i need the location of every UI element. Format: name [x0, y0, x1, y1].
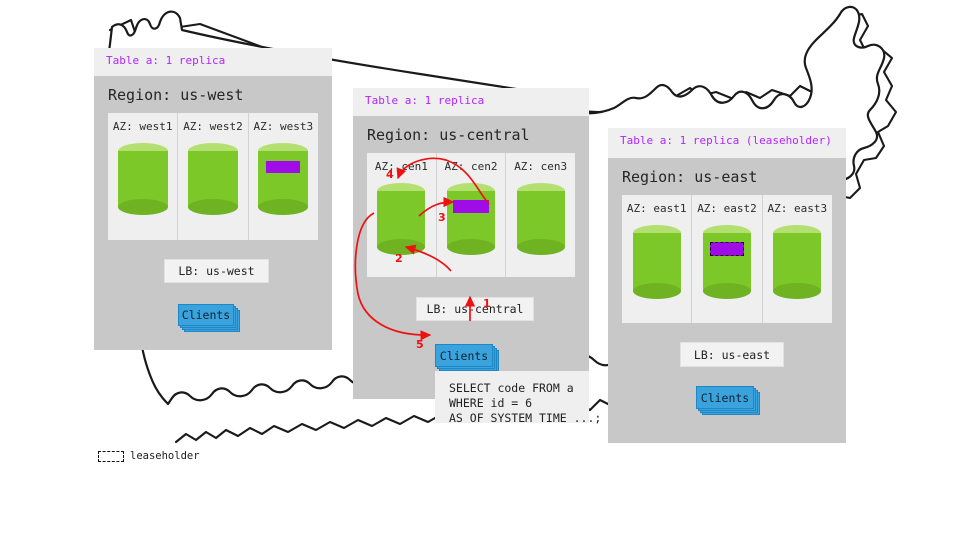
az-label: AZ: cen1 — [375, 160, 428, 174]
az-label: AZ: cen3 — [514, 160, 567, 174]
step-number-3: 3 — [438, 211, 446, 224]
step-number-4: 4 — [386, 168, 394, 181]
region-body-us-central: Region: us-central AZ: cen1 AZ: cen2 — [353, 116, 589, 399]
range-replica-cen2[interactable] — [453, 200, 489, 213]
diagram-canvas: Table a: 1 replica Region: us-west AZ: w… — [0, 0, 960, 540]
cylinder-bottom — [258, 199, 308, 215]
load-balancer-us-central[interactable]: LB: us-central — [416, 297, 534, 321]
node-cylinder-east1[interactable] — [633, 225, 681, 299]
az-cell-east2[interactable]: AZ: east2 — [691, 195, 761, 323]
sql-query-box: SELECT code FROM a WHERE id = 6 AS OF SY… — [435, 371, 589, 423]
clients-label[interactable]: Clients — [696, 386, 754, 409]
region-header-label: Table a: 1 replica (leaseholder) — [620, 134, 834, 148]
node-cylinder-cen1[interactable] — [377, 183, 425, 255]
sql-line-2: WHERE id = 6 — [449, 396, 577, 411]
node-cylinder-west1[interactable] — [118, 143, 168, 215]
range-replica-west3[interactable] — [266, 161, 300, 173]
range-leaseholder-east2[interactable] — [710, 242, 744, 256]
cylinder-bottom — [118, 199, 168, 215]
step-number-2: 2 — [395, 252, 403, 265]
node-cylinder-east2[interactable] — [703, 225, 751, 299]
region-header-label: Table a: 1 replica — [365, 94, 577, 108]
region-body-us-west: Region: us-west AZ: west1 AZ: west2 — [94, 76, 332, 350]
region-title: Region: us-east — [608, 158, 846, 195]
cylinder-bottom — [447, 239, 495, 255]
az-cell-cen3[interactable]: AZ: cen3 — [505, 153, 575, 277]
az-label: AZ: west1 — [113, 120, 173, 134]
cylinder-bottom — [633, 283, 681, 299]
sql-line-3: AS OF SYSTEM TIME ...; — [449, 411, 577, 426]
node-cylinder-cen3[interactable] — [517, 183, 565, 255]
region-header-label: Table a: 1 replica — [106, 54, 320, 68]
az-label: AZ: west2 — [183, 120, 243, 134]
region-panel-us-east: Table a: 1 replica (leaseholder) Region:… — [608, 128, 846, 443]
az-cell-cen2[interactable]: AZ: cen2 — [436, 153, 506, 277]
az-label: AZ: east3 — [768, 202, 828, 216]
az-label: AZ: cen2 — [445, 160, 498, 174]
az-label: AZ: east1 — [627, 202, 687, 216]
region-body-us-east: Region: us-east AZ: east1 AZ: east2 — [608, 158, 846, 443]
step-number-1: 1 — [483, 297, 491, 310]
az-row-us-east: AZ: east1 AZ: east2 — [622, 195, 832, 323]
node-cylinder-cen2[interactable] — [447, 183, 495, 255]
region-header-us-west: Table a: 1 replica — [94, 48, 332, 76]
sql-line-1: SELECT code FROM a — [449, 381, 577, 396]
region-title: Region: us-central — [353, 116, 589, 153]
legend-dashed-swatch-icon — [98, 451, 124, 462]
region-header-us-east: Table a: 1 replica (leaseholder) — [608, 128, 846, 158]
clients-label[interactable]: Clients — [435, 344, 493, 367]
az-cell-west1[interactable]: AZ: west1 — [108, 113, 177, 240]
load-balancer-us-west[interactable]: LB: us-west — [164, 259, 269, 283]
node-cylinder-west3[interactable] — [258, 143, 308, 215]
clients-stack-us-east[interactable]: Clients — [696, 386, 764, 418]
az-cell-west3[interactable]: AZ: west3 — [248, 113, 318, 240]
load-balancer-us-east[interactable]: LB: us-east — [680, 342, 784, 367]
clients-label[interactable]: Clients — [178, 304, 234, 326]
cylinder-bottom — [188, 199, 238, 215]
az-cell-west2[interactable]: AZ: west2 — [177, 113, 247, 240]
legend-leaseholder: leaseholder — [98, 450, 200, 462]
legend-label: leaseholder — [130, 450, 200, 462]
region-panel-us-west: Table a: 1 replica Region: us-west AZ: w… — [94, 48, 332, 350]
az-label: AZ: west3 — [254, 120, 314, 134]
region-header-us-central: Table a: 1 replica — [353, 88, 589, 116]
cylinder-bottom — [703, 283, 751, 299]
az-row-us-west: AZ: west1 AZ: west2 AZ — [108, 113, 318, 240]
node-cylinder-east3[interactable] — [773, 225, 821, 299]
cylinder-bottom — [517, 239, 565, 255]
step-number-5: 5 — [416, 338, 424, 351]
az-cell-east3[interactable]: AZ: east3 — [762, 195, 832, 323]
node-cylinder-west2[interactable] — [188, 143, 238, 215]
cylinder-bottom — [773, 283, 821, 299]
az-cell-east1[interactable]: AZ: east1 — [622, 195, 691, 323]
clients-stack-us-west[interactable]: Clients — [178, 304, 242, 334]
region-panel-us-central: Table a: 1 replica Region: us-central AZ… — [353, 88, 589, 399]
region-title: Region: us-west — [94, 76, 332, 113]
az-label: AZ: east2 — [697, 202, 757, 216]
